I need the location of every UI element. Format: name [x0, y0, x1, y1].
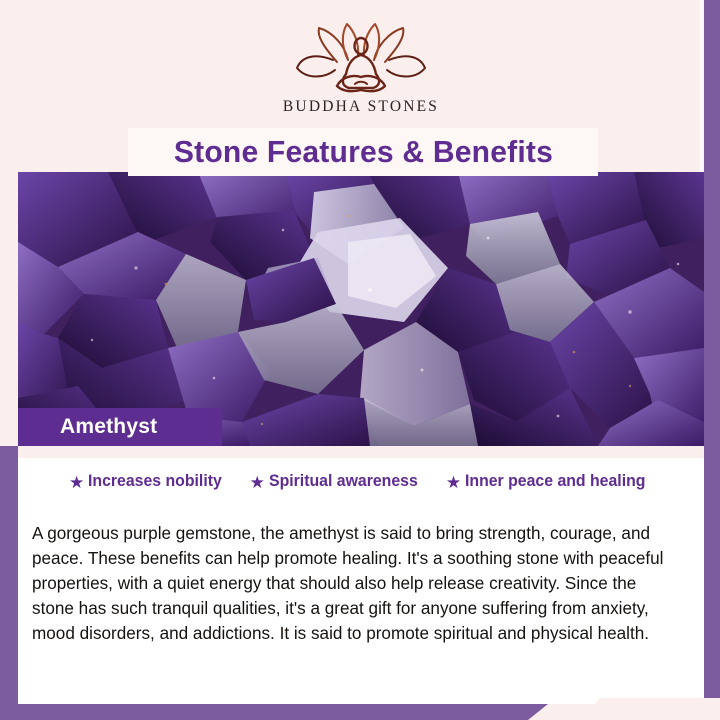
benefit-item: ★ Inner peace and healing: [446, 472, 653, 491]
body-top-divider: [18, 446, 704, 458]
star-icon: ★: [69, 474, 84, 491]
benefit-label: Increases nobility: [88, 472, 222, 491]
benefit-label: Inner peace and healing: [465, 472, 645, 491]
stone-name-banner: Amethyst: [18, 408, 222, 446]
lotus-meditation-icon: [293, 22, 429, 94]
star-icon: ★: [250, 474, 265, 491]
brand-wordmark: BUDDHA STONES: [283, 98, 439, 116]
frame-left-accent-edge: [0, 446, 18, 704]
title-banner: Stone Features & Benefits: [128, 128, 598, 176]
content-card: BUDDHA STONES Stone Features & Benefits: [18, 0, 704, 704]
body-section: ★ Increases nobility ★ Spiritual awarene…: [18, 446, 704, 704]
benefit-item: ★ Increases nobility: [69, 472, 228, 491]
star-icon: ★: [446, 474, 461, 491]
benefit-label: Spiritual awareness: [269, 472, 418, 491]
benefits-list: ★ Increases nobility ★ Spiritual awarene…: [18, 472, 704, 491]
frame-right-accent-bar: [704, 0, 720, 720]
frame-bottom-accent-bar: [0, 704, 548, 720]
stone-name-label: Amethyst: [18, 415, 157, 439]
poster-root: BUDDHA STONES Stone Features & Benefits: [0, 0, 720, 720]
brand-logo: BUDDHA STONES: [18, 22, 704, 116]
page-title: Stone Features & Benefits: [173, 134, 552, 170]
hero-image-amethyst: [18, 172, 704, 446]
stone-description: A gorgeous purple gemstone, the amethyst…: [32, 521, 678, 646]
benefit-item: ★ Spiritual awareness: [250, 472, 424, 491]
